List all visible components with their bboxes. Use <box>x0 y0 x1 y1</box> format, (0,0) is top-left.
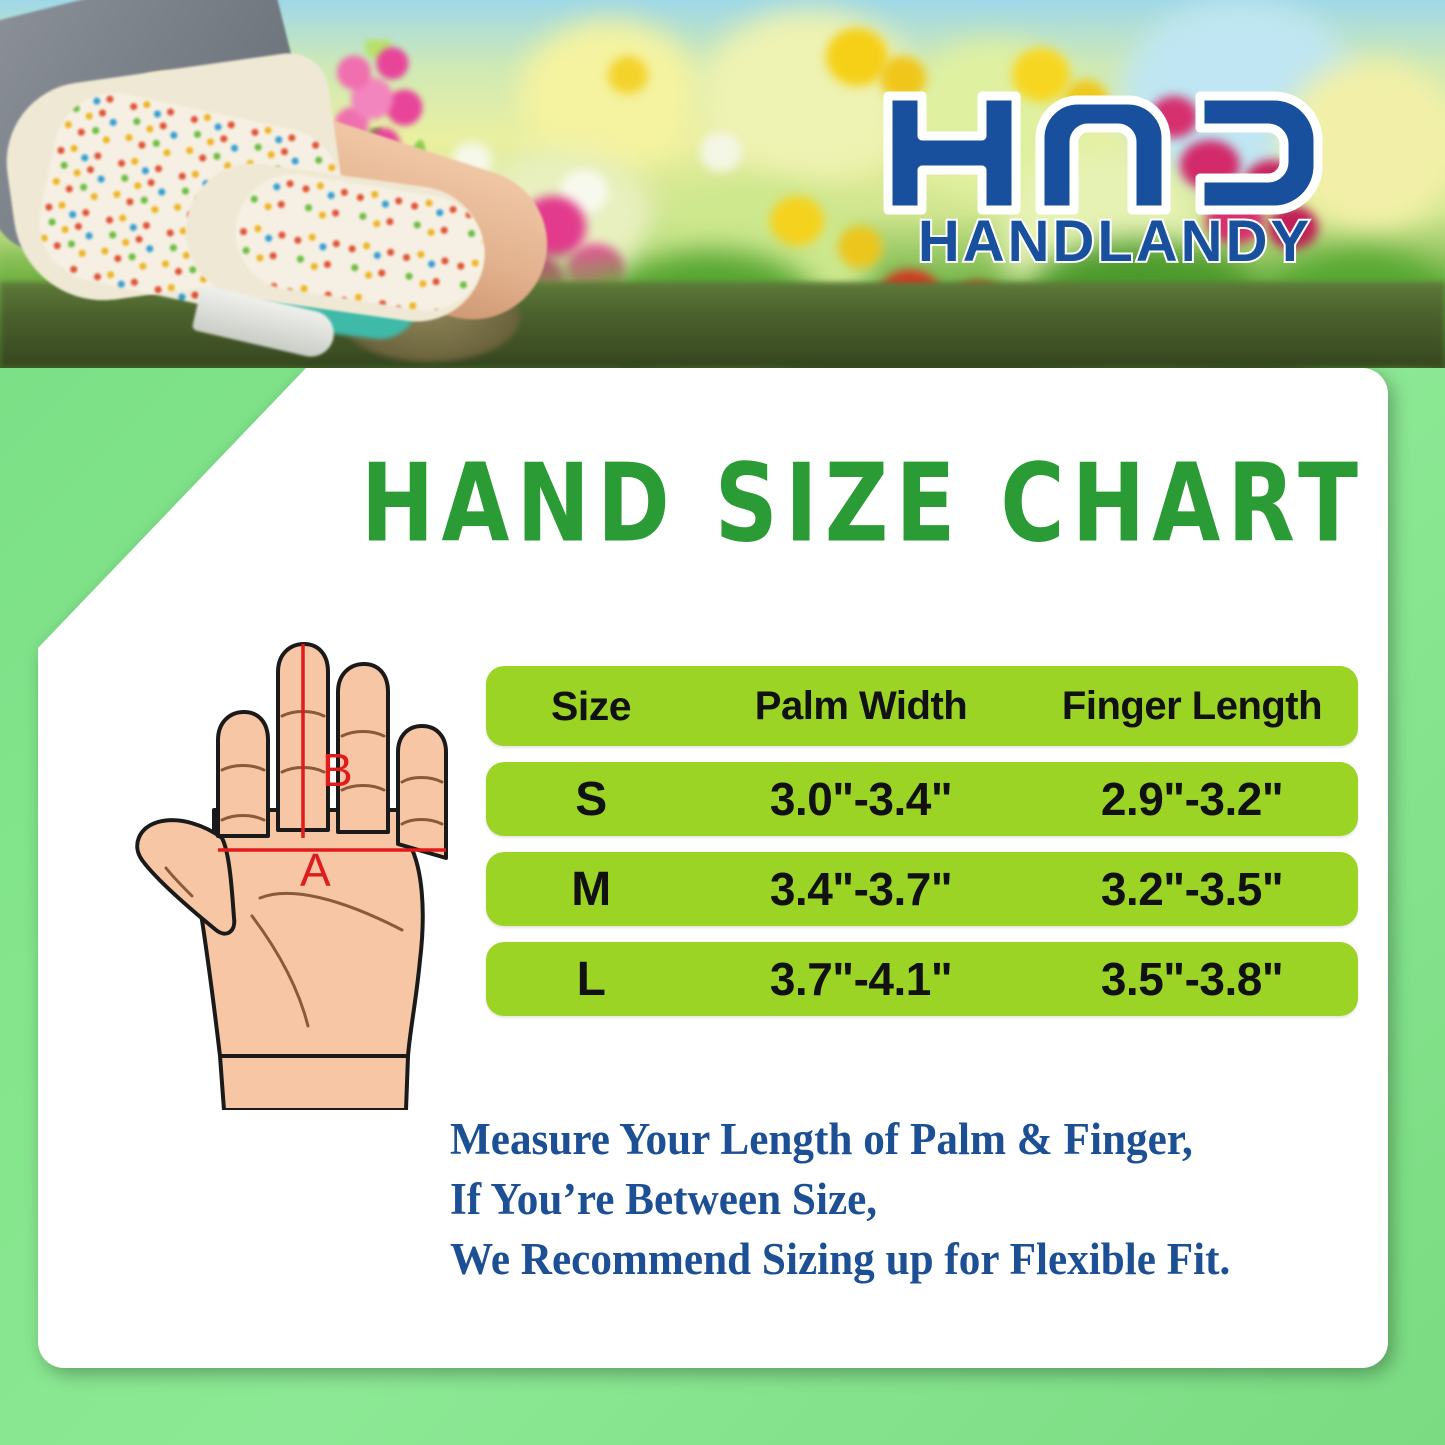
cell-size: L <box>486 952 696 1007</box>
note-line-3: We Recommend Sizing up for Flexible Fit. <box>450 1230 1314 1290</box>
cell-finger: 3.2"-3.5" <box>1026 862 1358 916</box>
note-line-1: Measure Your Length of Palm & Finger, <box>450 1110 1314 1170</box>
note-line-2: If You’re Between Size, <box>450 1170 1314 1230</box>
column-header-size: Size <box>486 683 696 730</box>
cell-palm: 3.4"-3.7" <box>696 862 1026 916</box>
cell-finger: 3.5"-3.8" <box>1026 952 1358 1006</box>
hero-banner: HANDLANDY <box>0 0 1445 368</box>
page-title: HAND SIZE CHART <box>343 450 1383 558</box>
size-chart-card: HAND SIZE CHART <box>38 368 1388 1368</box>
size-table: Size Palm Width Finger Length S 3.0"-3.4… <box>486 666 1358 1016</box>
cell-size: S <box>486 772 696 827</box>
table-row: M 3.4"-3.7" 3.2"-3.5" <box>486 852 1358 926</box>
column-header-finger: Finger Length <box>1026 684 1358 729</box>
table-row: L 3.7"-4.1" 3.5"-3.8" <box>486 942 1358 1016</box>
cell-palm: 3.0"-3.4" <box>696 772 1026 826</box>
table-row: S 3.0"-3.4" 2.9"-3.2" <box>486 762 1358 836</box>
hand-measurement-diagram-icon: B A <box>110 630 500 1110</box>
size-chart-page: HANDLANDY HAND SIZE CHART <box>0 0 1445 1445</box>
column-header-palm: Palm Width <box>696 684 1026 729</box>
brand-logo: HANDLANDY <box>880 88 1350 283</box>
brand-name: HANDLANDY <box>880 208 1350 275</box>
cell-size: M <box>486 862 696 917</box>
cell-finger: 2.9"-3.2" <box>1026 772 1358 826</box>
diagram-label-b: B <box>322 744 353 796</box>
table-header-row: Size Palm Width Finger Length <box>486 666 1358 746</box>
diagram-label-a: A <box>300 844 331 896</box>
sizing-note: Measure Your Length of Palm & Finger, If… <box>450 1110 1314 1290</box>
hod-monogram-logo-icon <box>880 88 1350 218</box>
cell-palm: 3.7"-4.1" <box>696 952 1026 1006</box>
